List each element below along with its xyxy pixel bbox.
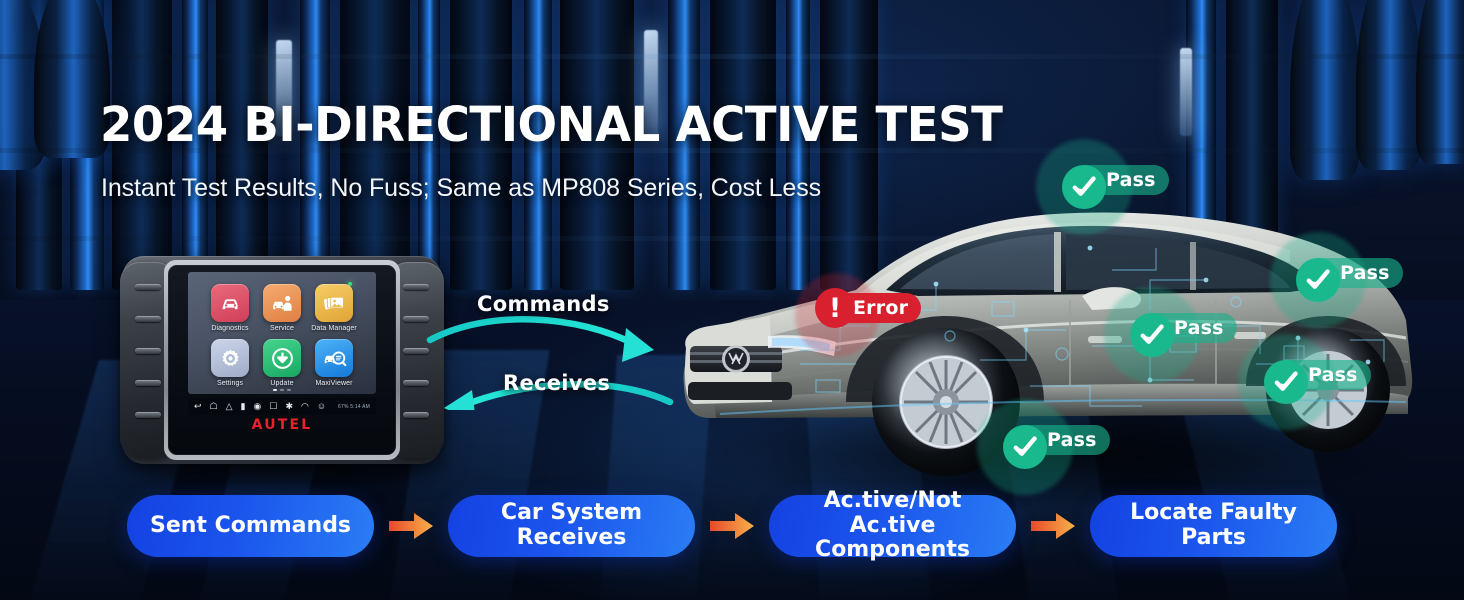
app-maxiviewer[interactable]: MaxiViewer (308, 339, 360, 387)
check-icon (1003, 425, 1047, 469)
vehicle-icon[interactable]: ◠ (301, 402, 309, 411)
screenshot-icon[interactable]: ▮ (241, 402, 246, 411)
step-label: Car System Receives (464, 501, 679, 550)
app-data-manager[interactable]: Data Manager (308, 284, 360, 332)
marker-pass-rocker[interactable]: Pass (1264, 360, 1371, 390)
check-icon (1264, 360, 1308, 404)
download-icon (263, 339, 301, 377)
marker-label: Pass (1340, 262, 1390, 284)
page-indicator[interactable] (188, 389, 376, 391)
marker-pass-front-door[interactable]: Pass (1130, 313, 1237, 343)
back-icon[interactable]: ↩ (194, 402, 202, 411)
brand-logo: AUTEL (168, 417, 396, 433)
app-update[interactable]: Update (256, 339, 308, 387)
marker-label: Error (853, 297, 908, 319)
check-icon (1130, 313, 1174, 357)
chat-icon[interactable]: ☐ (269, 402, 277, 411)
marker-label: Pass (1047, 429, 1097, 451)
flow-arrow-1 (374, 511, 448, 541)
viewer-icon (315, 339, 353, 377)
car-icon (211, 284, 249, 322)
flow-arrow-2 (695, 511, 769, 541)
support-icon[interactable]: ☺ (317, 402, 326, 411)
flow-label-commands: Commands (477, 292, 610, 316)
app-label: Diagnostics (211, 325, 248, 332)
status-bar-text: 67% 5:14 AM (338, 404, 370, 410)
marker-pass-windshield[interactable]: Pass (1062, 165, 1169, 195)
step-locate-faulty-parts[interactable]: Locate Faulty Parts (1090, 495, 1337, 557)
app-settings[interactable]: Settings (204, 339, 256, 387)
check-icon (1062, 165, 1106, 209)
marker-error-engine[interactable]: Error ! (815, 293, 921, 323)
record-icon[interactable]: ◉ (254, 402, 262, 411)
step-sent-commands[interactable]: Sent Commands (127, 495, 374, 557)
process-flow-bar: Sent Commands Car System Receives Ac.tiv… (0, 494, 1464, 558)
app-label: Service (270, 325, 294, 332)
device-bezel: Diagnostics Service Data Manager (168, 265, 396, 455)
step-label: Ac.tive/Not Ac.tiveComponents (785, 489, 1000, 563)
alert-icon: ! (815, 288, 855, 328)
marker-label: Pass (1308, 364, 1358, 386)
app-service[interactable]: Service (256, 284, 308, 332)
app-label: Update (270, 380, 293, 387)
step-active-components[interactable]: Ac.tive/Not Ac.tiveComponents (769, 495, 1016, 557)
autel-tablet-device: Diagnostics Service Data Manager (122, 256, 442, 464)
app-label: MaxiViewer (315, 380, 352, 387)
marker-label: Pass (1106, 169, 1156, 191)
flow-label-receives: Receives (503, 371, 610, 395)
gear-icon (211, 339, 249, 377)
promo-banner: Pass Error ! Pass Pass Pass Pass (0, 0, 1464, 600)
step-label: Locate Faulty Parts (1106, 501, 1321, 550)
page-title: 2024 BI-DIRECTIONAL ACTIVE TEST (100, 101, 1002, 149)
app-label: Data Manager (311, 325, 357, 332)
home-icon[interactable]: ☖ (210, 402, 218, 411)
marker-label: Pass (1174, 317, 1224, 339)
app-grid: Diagnostics Service Data Manager (204, 284, 360, 387)
data-manager-icon (315, 284, 353, 322)
check-icon (1296, 258, 1340, 302)
app-label: Settings (217, 380, 243, 387)
marker-pass-front-wheel[interactable]: Pass (1003, 425, 1110, 455)
step-label: Sent Commands (150, 514, 351, 539)
house-icon[interactable]: △ (226, 402, 233, 411)
app-diagnostics[interactable]: Diagnostics (204, 284, 256, 332)
page-subtitle: Instant Test Results, No Fuss; Same as M… (101, 174, 821, 203)
flow-arrow-3 (1016, 511, 1090, 541)
marker-pass-rear-door[interactable]: Pass (1296, 258, 1403, 288)
step-car-system-receives[interactable]: Car System Receives (448, 495, 695, 557)
service-icon (263, 284, 301, 322)
device-taskbar[interactable]: ↩ ☖ △ ▮ ◉ ☐ ✱ ◠ ☺ 67% 5:14 AM (188, 398, 376, 415)
device-screen[interactable]: Diagnostics Service Data Manager (188, 272, 376, 394)
brightness-icon[interactable]: ✱ (285, 402, 293, 411)
